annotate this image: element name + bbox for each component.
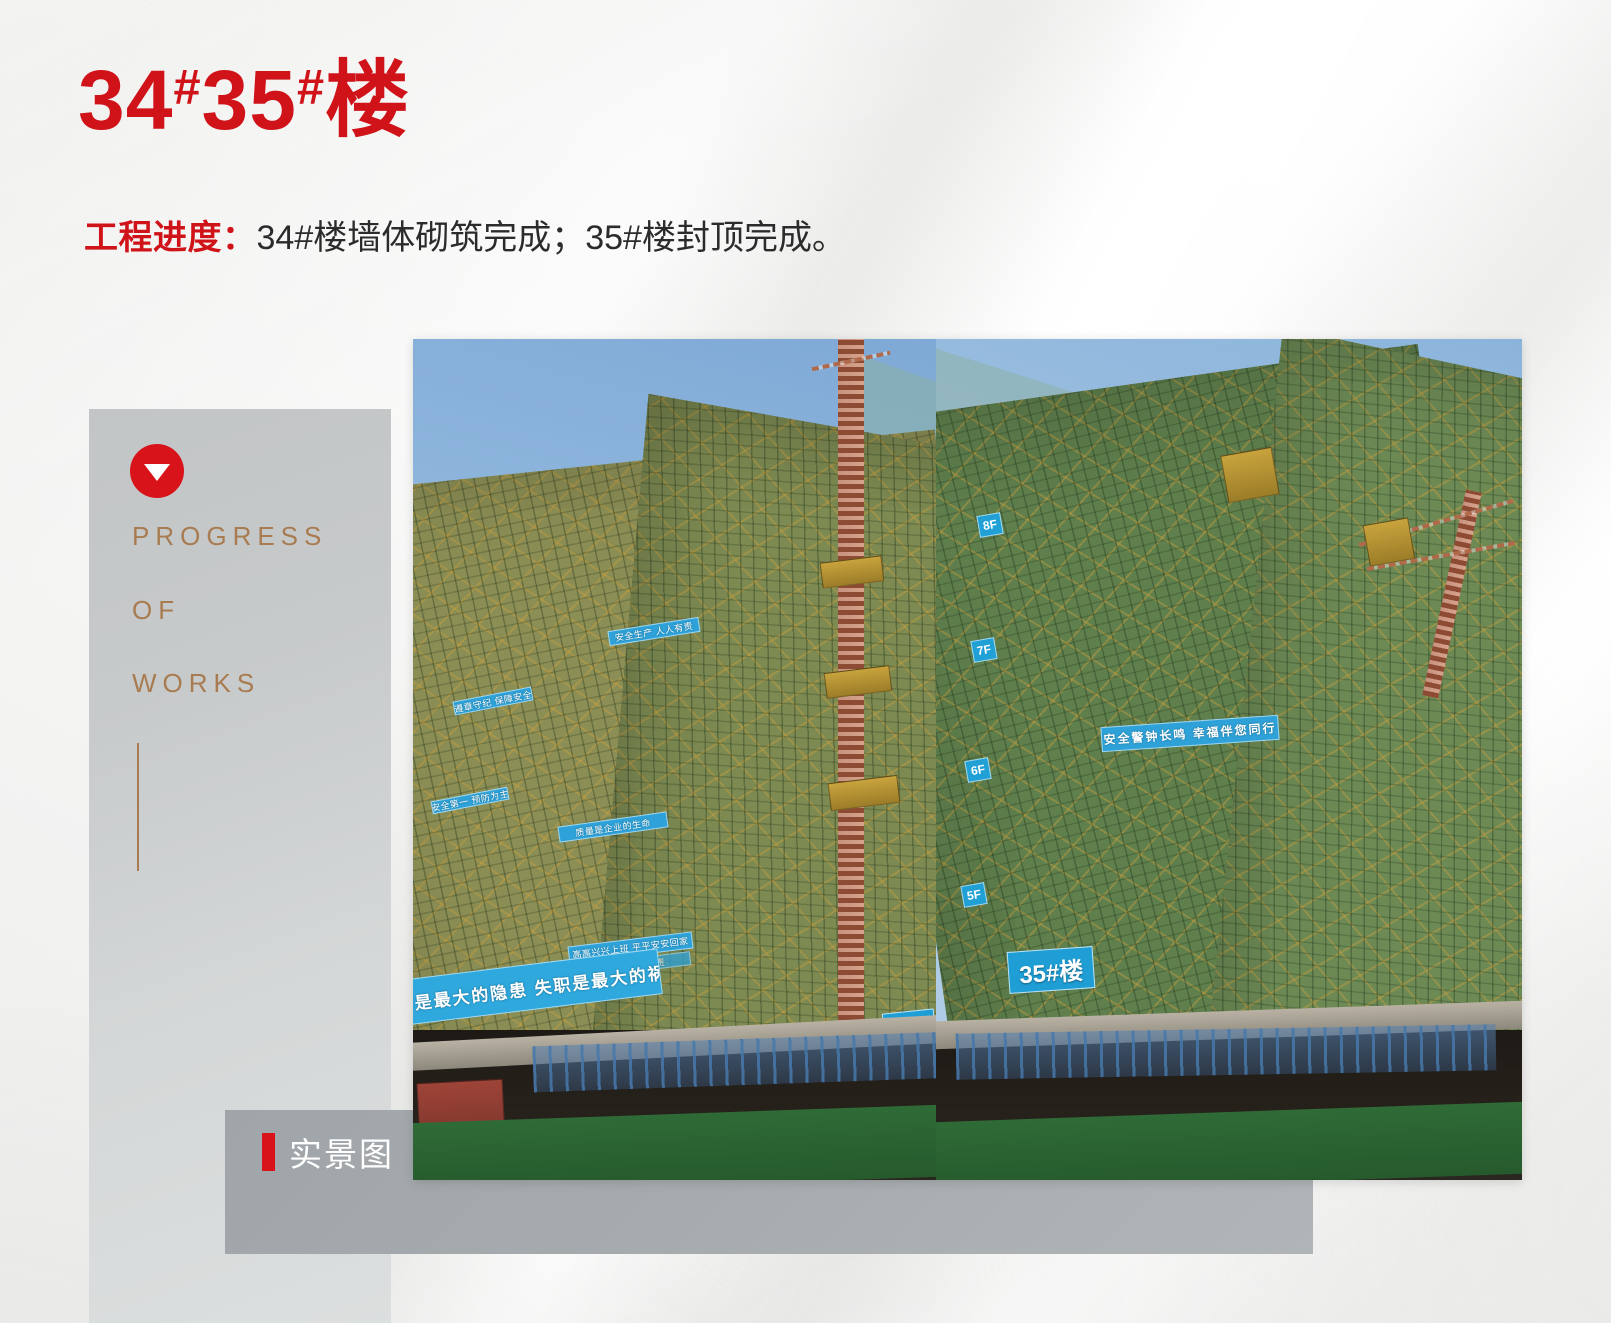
page-title-suffix: 楼	[325, 53, 410, 147]
triangle-down-icon	[130, 444, 184, 498]
blue-guardrail	[956, 1024, 1497, 1079]
page-title: 34#35#楼	[78, 58, 410, 142]
material-hoist-platform	[1220, 447, 1280, 503]
material-hoist-platform	[1363, 517, 1416, 566]
progress-text: 34#楼墙体砌筑完成；35#楼封顶完成。	[257, 219, 846, 257]
eyebrow-works: WORKS	[132, 668, 260, 699]
caption-accent-bar	[262, 1133, 275, 1171]
building-number-sign-35: 35#楼	[1007, 946, 1096, 994]
page-title-num1: 34	[78, 53, 173, 147]
caption-label: 实景图	[289, 1128, 394, 1176]
floor-sign-8f: 8F	[976, 512, 1003, 538]
photo-35-building[interactable]: 8F 7F 6F 5F 安全警钟长鸣 幸福伴您同行 35#楼	[936, 339, 1522, 1180]
vertical-rule	[137, 743, 139, 871]
floor-sign-7f: 7F	[970, 637, 997, 663]
caption-group: 实景图	[262, 1128, 394, 1176]
progress-label: 工程进度：	[84, 219, 257, 257]
triangle-glyph	[144, 464, 170, 481]
page-title-hash2: #	[297, 61, 325, 115]
eyebrow-of: OF	[132, 595, 180, 626]
photo-gallery: 安全生产 人人有责 遵章守纪 保障安全 安全第一 预防为主 质量是企业的生命 高…	[413, 339, 1522, 1180]
floor-sign-6f: 6F	[964, 757, 991, 783]
floor-sign-5f: 5F	[960, 882, 987, 908]
page-title-hash1: #	[173, 61, 201, 115]
progress-subtitle: 工程进度：34#楼墙体砌筑完成；35#楼封顶完成。	[84, 218, 846, 259]
photo-34-building[interactable]: 安全生产 人人有责 遵章守纪 保障安全 安全第一 预防为主 质量是企业的生命 高…	[413, 339, 936, 1180]
page-title-num2: 35	[202, 53, 297, 147]
eyebrow-progress: PROGRESS	[132, 521, 327, 552]
